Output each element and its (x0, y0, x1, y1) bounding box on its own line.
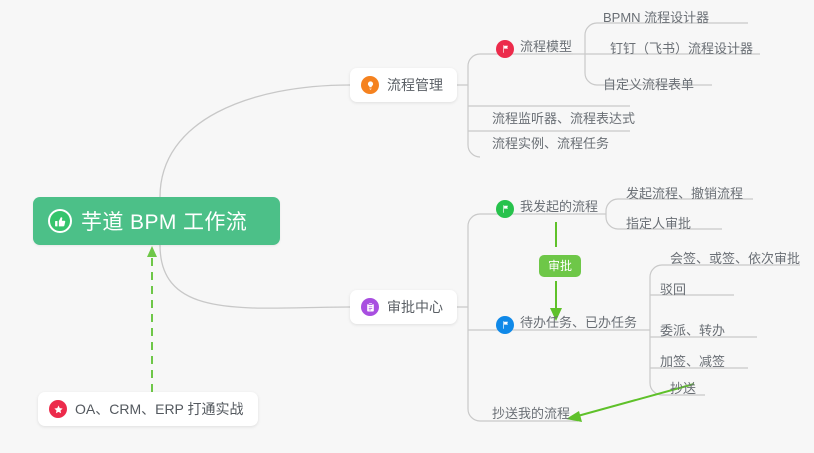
node-multi-sign-approval[interactable]: 会签、或签、依次审批 (670, 252, 800, 272)
annotation-card-label: OA、CRM、ERP 打通实战 (75, 399, 244, 419)
flag-icon (496, 40, 514, 58)
node-assignee-approval[interactable]: 指定人审批 (626, 217, 691, 237)
node-label: 抄送我的流程 (492, 406, 570, 421)
node-label: 会签、或签、依次审批 (670, 251, 800, 266)
node-process-instance[interactable]: 流程实例、流程任务 (492, 137, 609, 157)
thumbs-up-icon (48, 209, 72, 233)
branch-card-label: 审批中心 (387, 297, 443, 317)
node-dingtalk-designer[interactable]: 钉钉（飞书）流程设计器 (610, 42, 753, 62)
node-label: 自定义流程表单 (603, 77, 694, 92)
node-cc-to-me-processes[interactable]: 抄送我的流程 (492, 407, 570, 427)
branch-card-approval-center[interactable]: 审批中心 (350, 290, 457, 324)
approve-tag-label: 审批 (548, 259, 572, 273)
clipboard-icon (361, 298, 379, 316)
approve-tag[interactable]: 审批 (539, 255, 581, 277)
branch-card-label: 流程管理 (387, 75, 443, 95)
node-label: 我发起的流程 (520, 199, 598, 214)
node-delegate-transfer[interactable]: 委派、转办 (660, 324, 725, 344)
node-label: 流程模型 (520, 39, 572, 54)
node-carbon-copy[interactable]: 抄送 (670, 382, 696, 402)
lightbulb-pin-icon (361, 76, 379, 94)
node-process-model[interactable]: 流程模型 (496, 40, 572, 65)
annotation-card-integration[interactable]: OA、CRM、ERP 打通实战 (38, 392, 258, 426)
mindmap-canvas: 芋道 BPM 工作流 流程管理 审批中心 流程模型 流程监听器、流程表达式 流程… (0, 0, 814, 453)
flag-icon (496, 200, 514, 218)
dashed-green-arrow (147, 246, 157, 392)
node-custom-process-form[interactable]: 自定义流程表单 (603, 78, 694, 98)
node-label: BPMN 流程设计器 (603, 10, 709, 25)
root-label: 芋道 BPM 工作流 (81, 206, 247, 236)
node-add-remove-sign[interactable]: 加签、减签 (660, 355, 725, 375)
star-icon (49, 400, 67, 418)
root-node[interactable]: 芋道 BPM 工作流 (33, 197, 280, 245)
branch-card-process-management[interactable]: 流程管理 (350, 68, 457, 102)
node-todo-done-tasks[interactable]: 待办任务、已办任务 (496, 316, 637, 341)
node-reject[interactable]: 驳回 (660, 283, 686, 303)
node-label: 驳回 (660, 282, 686, 297)
node-label: 钉钉（飞书）流程设计器 (610, 41, 753, 56)
flag-icon (496, 316, 514, 334)
node-process-listener[interactable]: 流程监听器、流程表达式 (492, 112, 635, 132)
node-label: 流程监听器、流程表达式 (492, 111, 635, 126)
node-label: 指定人审批 (626, 216, 691, 231)
node-label: 加签、减签 (660, 354, 725, 369)
node-label: 流程实例、流程任务 (492, 136, 609, 151)
node-label: 待办任务、已办任务 (520, 315, 637, 330)
node-label: 委派、转办 (660, 323, 725, 338)
node-my-started-processes[interactable]: 我发起的流程 (496, 200, 598, 225)
node-bpmn-designer[interactable]: BPMN 流程设计器 (603, 11, 709, 31)
node-start-cancel-process[interactable]: 发起流程、撤销流程 (626, 187, 743, 207)
node-label: 发起流程、撤销流程 (626, 186, 743, 201)
node-label: 抄送 (670, 381, 696, 396)
